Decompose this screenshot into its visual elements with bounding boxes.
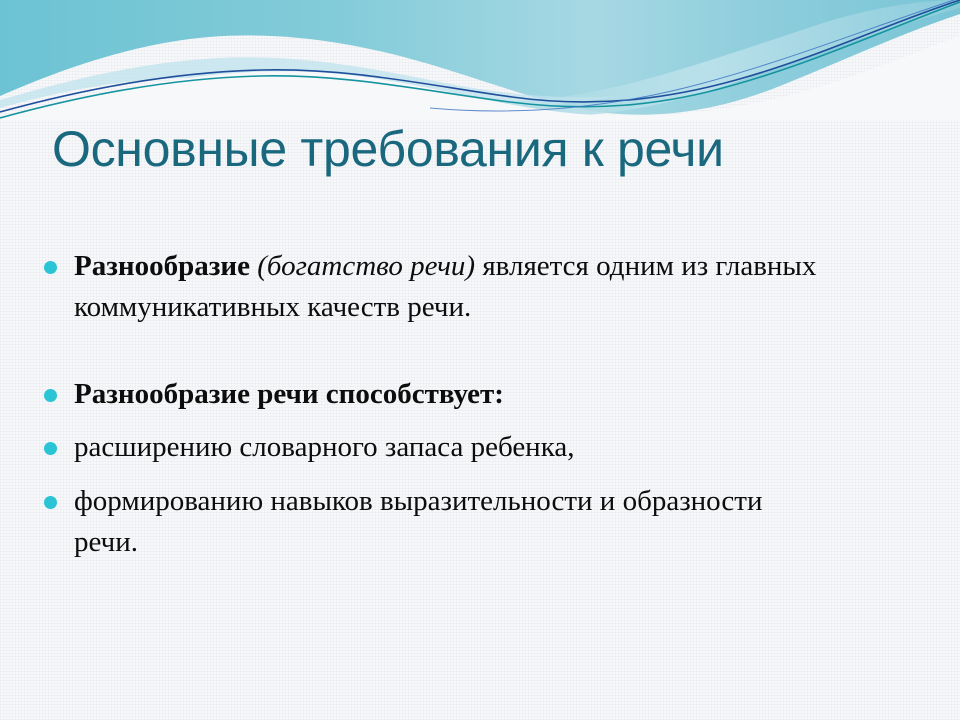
bullet-segment: формированию навыков выразительности и о… [74, 485, 762, 558]
bullet-text-4: формированию навыков выразительности и о… [74, 481, 774, 563]
bullet-segment: Разнообразие речи способствует: [74, 378, 504, 410]
bullet-text-1: Разнообразие (богатство речи) является о… [74, 246, 874, 328]
bullet-segment: (богатство речи) [257, 250, 475, 282]
bullet-dot-icon [44, 442, 57, 455]
list-item: Разнообразие речи способствует: [44, 374, 934, 415]
bullet-dot-icon [44, 496, 57, 509]
wave-banner-decoration [0, 0, 960, 120]
bullet-text-2: Разнообразие речи способствует: [74, 374, 934, 415]
page-title: Основные требования к речи [52, 118, 912, 180]
presentation-slide: Основные требования к речи Разнообразие … [0, 0, 960, 720]
list-item: Разнообразие (богатство речи) является о… [44, 246, 934, 328]
list-item: расширению словарного запаса ребенка, [44, 427, 934, 468]
list-item: формированию навыков выразительности и о… [44, 481, 934, 563]
bullet-segment: Разнообразие [74, 250, 257, 282]
bullet-text-3: расширению словарного запаса ребенка, [74, 427, 934, 468]
bullet-dot-icon [44, 389, 57, 402]
bullet-dot-icon [44, 261, 57, 274]
content-placeholder: Разнообразие (богатство речи) является о… [44, 246, 934, 563]
title-placeholder: Основные требования к речи [52, 118, 912, 180]
bullet-segment: расширению словарного запаса ребенка, [74, 431, 574, 463]
